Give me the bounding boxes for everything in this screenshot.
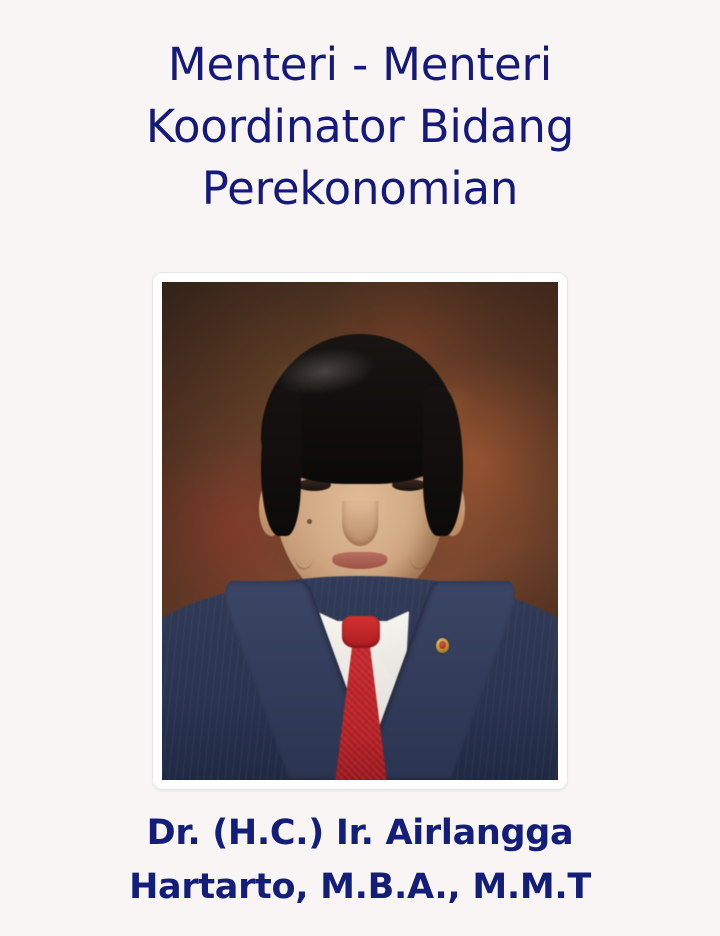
portrait-photo [162, 282, 558, 780]
page-title: Menteri - Menteri Koordinator Bidang Per… [0, 0, 720, 220]
portrait-caption-line-2: Hartarto, M.B.A., M.M.T [0, 860, 720, 914]
page-title-line-3: Perekonomian [40, 158, 680, 220]
portrait-mouth [332, 552, 387, 569]
page-title-line-1: Menteri - Menteri [40, 34, 680, 96]
portrait-hair-side-left [261, 387, 301, 536]
page-title-line-2: Koordinator Bidang [40, 96, 680, 158]
portrait-caption-line-1: Dr. (H.C.) Ir. Airlangga [0, 806, 720, 860]
portrait-necktie-knot [342, 616, 380, 648]
portrait-lapel-pin [436, 638, 449, 653]
portrait-cheek-mole [307, 519, 312, 524]
slide-page: Menteri - Menteri Koordinator Bidang Per… [0, 0, 720, 936]
portrait-photo-frame [152, 272, 568, 790]
portrait-caption: Dr. (H.C.) Ir. Airlangga Hartarto, M.B.A… [0, 806, 720, 914]
portrait-nose [342, 501, 378, 546]
